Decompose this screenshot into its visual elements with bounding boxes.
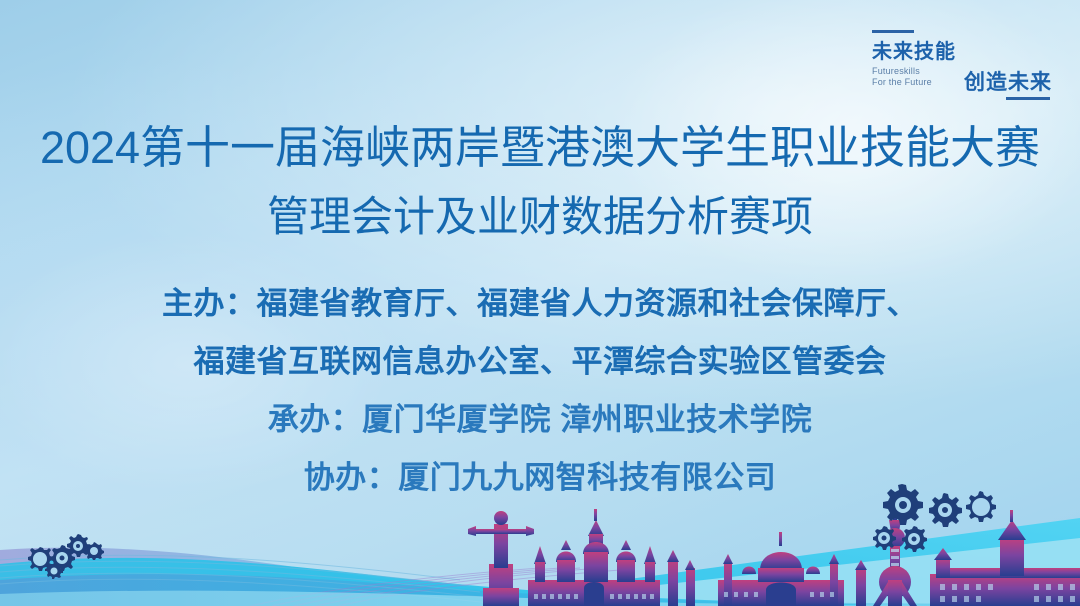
page-title: 2024第十一届海峡两岸暨港澳大学生职业技能大赛 xyxy=(0,118,1080,178)
headline-block: 2024第十一届海峡两岸暨港澳大学生职业技能大赛 管理会计及业财数据分析赛项 xyxy=(0,118,1080,244)
christ-the-redeemer-icon xyxy=(468,511,534,606)
brand-dash-bottom-icon xyxy=(1006,97,1050,100)
credit-line-organizer: 承办：厦门华厦学院 漳州职业技术学院 xyxy=(0,391,1080,449)
poster-canvas: 未来技能 Futureskills For the Future 创造未来 20… xyxy=(0,0,1080,606)
gear-icon xyxy=(902,526,927,552)
gear-icon xyxy=(67,534,90,557)
gear-icon xyxy=(929,493,962,527)
brand-en-line-1: Futureskills xyxy=(872,66,932,77)
credit-line-host: 主办：福建省教育厅、福建省人力资源和社会保障厅、 xyxy=(0,275,1080,333)
brand-en-lines: Futureskills For the Future xyxy=(872,66,932,88)
page-subtitle: 管理会计及业财数据分析赛项 xyxy=(0,190,1080,244)
gear-icon xyxy=(85,542,104,560)
gear-cluster-right xyxy=(872,482,1002,560)
brand-en-line-2: For the Future xyxy=(872,77,932,88)
credits-block: 主办：福建省教育厅、福建省人力资源和社会保障厅、 福建省互联网信息办公室、平潭综… xyxy=(0,275,1080,507)
gear-cluster-left xyxy=(28,526,114,578)
stub-tower-icon xyxy=(855,560,867,606)
credit-line-host-2: 福建省互联网信息办公室、平潭综合实验区管委会 xyxy=(0,333,1080,391)
gear-icon xyxy=(966,491,996,522)
gear-icon xyxy=(883,484,923,525)
column-towers-icon xyxy=(667,550,695,606)
brand-cn-line-1: 未来技能 xyxy=(872,35,956,64)
brand-cn-line-2: 创造未来 xyxy=(964,66,1052,96)
brand-logo: 未来技能 Futureskills For the Future 创造未来 xyxy=(864,24,1054,106)
st-basils-cathedral-icon xyxy=(528,509,660,606)
gear-icon xyxy=(873,526,896,550)
brand-dash-top-icon xyxy=(872,30,914,33)
